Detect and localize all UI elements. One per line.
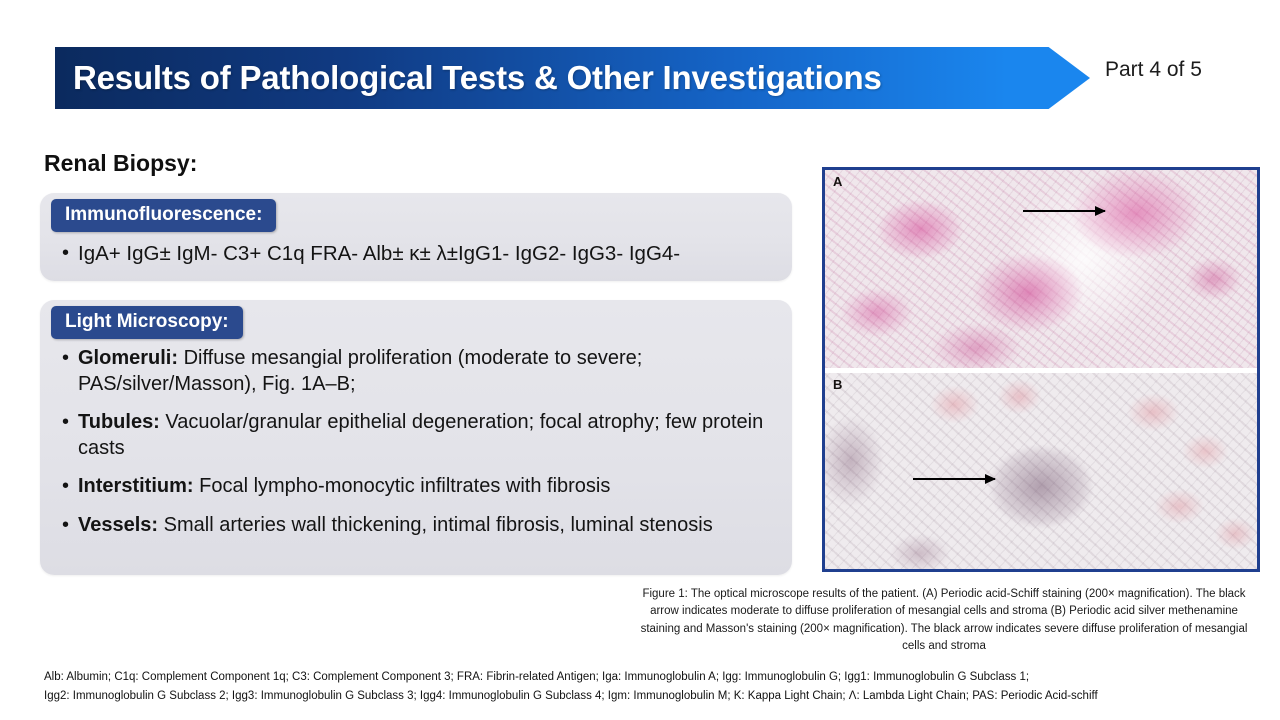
list-item: •Vessels: Small arteries wall thickening…: [62, 513, 776, 539]
list-item: •Glomeruli: Diffuse mesangial proliferat…: [62, 346, 776, 397]
bullet-dot-icon: •: [62, 410, 78, 436]
silver-masson-stain-image: [825, 373, 1257, 569]
bullet-dot-icon: •: [62, 513, 78, 539]
list-item: •Tubules: Vacuolar/granular epithelial d…: [62, 410, 776, 461]
list-item-term: Glomeruli:: [78, 347, 178, 369]
bullet-dot-icon: •: [62, 241, 78, 267]
microscopy-figure: A B: [822, 167, 1260, 572]
figure-caption: Figure 1: The optical microscope results…: [636, 586, 1252, 656]
list-item-term: Vessels:: [78, 514, 158, 536]
arrow-icon: [1023, 210, 1105, 212]
pas-stain-image: [825, 170, 1257, 368]
footnote-line-2: Igg2: Immunoglobulin G Subclass 2; Igg3:…: [44, 687, 1244, 706]
page-title: Renal Biopsy:: [44, 150, 197, 177]
list-item-text: Vessels: Small arteries wall thickening,…: [78, 513, 776, 539]
list-item: •Interstitium: Focal lympho-monocytic in…: [62, 474, 776, 500]
part-indicator: Part 4 of 5: [1105, 58, 1202, 82]
abbreviations-footnote: Alb: Albumin; C1q: Complement Component …: [44, 668, 1244, 705]
list-item-term: Tubules:: [78, 411, 160, 433]
immunofluorescence-bullet-list: •IgA+ IgG± IgM- C3+ C1q FRA- Alb± κ± λ±I…: [62, 241, 776, 267]
panel-a-label: A: [833, 174, 842, 189]
list-item: •IgA+ IgG± IgM- C3+ C1q FRA- Alb± κ± λ±I…: [62, 241, 776, 267]
list-item-term: Interstitium:: [78, 475, 194, 497]
arrow-icon: [913, 478, 995, 480]
light-microscopy-badge: Light Microscopy:: [51, 306, 243, 339]
panel-b-label: B: [833, 377, 842, 392]
immunofluorescence-panel: Immunofluorescence: •IgA+ IgG± IgM- C3+ …: [40, 193, 792, 281]
list-item-text: Tubules: Vacuolar/granular epithelial de…: [78, 410, 776, 461]
list-item-text: Glomeruli: Diffuse mesangial proliferati…: [78, 346, 776, 397]
footnote-line-1: Alb: Albumin; C1q: Complement Component …: [44, 668, 1244, 687]
slide-title: Results of Pathological Tests & Other In…: [73, 47, 882, 109]
bullet-dot-icon: •: [62, 346, 78, 372]
microscopy-panel-b: B: [825, 373, 1257, 569]
bullet-dot-icon: •: [62, 474, 78, 500]
light-microscopy-bullet-list: •Glomeruli: Diffuse mesangial proliferat…: [62, 346, 776, 552]
list-item-text: IgA+ IgG± IgM- C3+ C1q FRA- Alb± κ± λ±Ig…: [78, 241, 776, 267]
slide-header: Results of Pathological Tests & Other In…: [55, 47, 1090, 109]
list-item-text: Interstitium: Focal lympho-monocytic inf…: [78, 474, 776, 500]
light-microscopy-panel: Light Microscopy: •Glomeruli: Diffuse me…: [40, 300, 792, 575]
microscopy-panel-a: A: [825, 170, 1257, 368]
immunofluorescence-badge: Immunofluorescence:: [51, 199, 276, 232]
